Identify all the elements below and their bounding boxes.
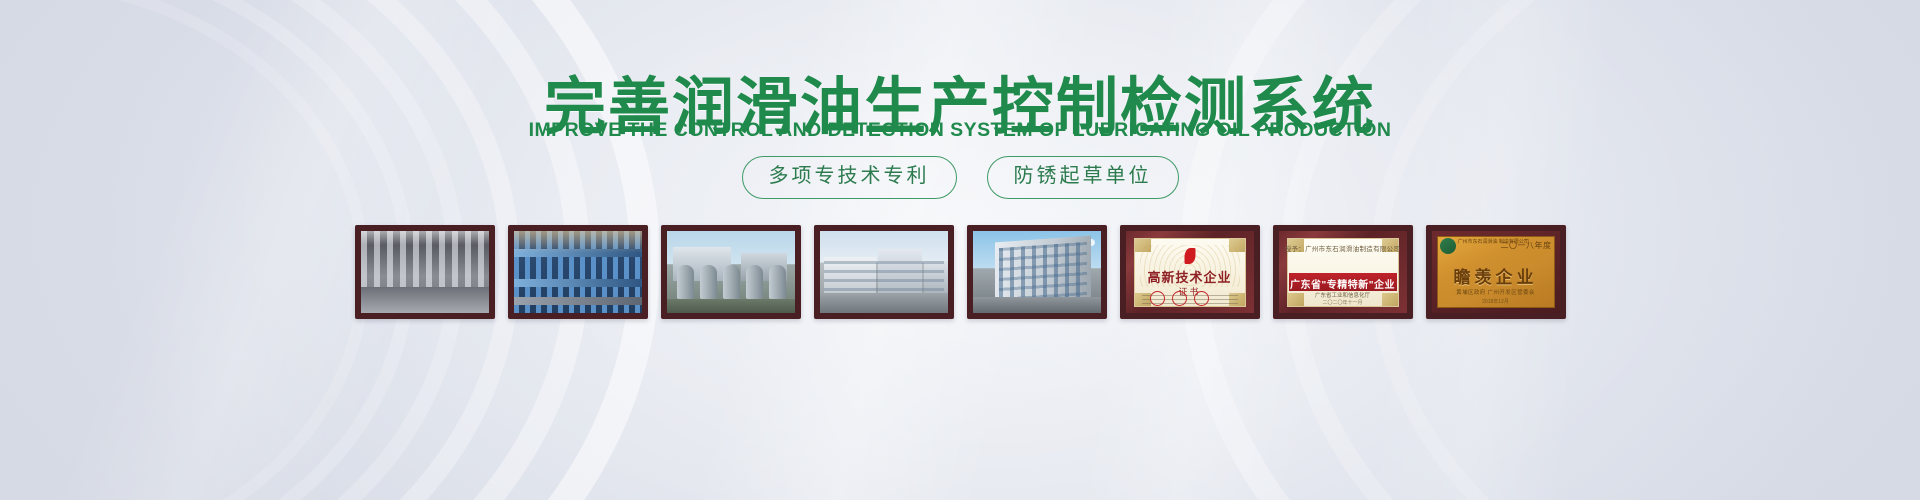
certificate-frame: 高新技术企业 证书 [1126, 231, 1254, 313]
certificate-header-text: 授予：广州市东石润滑油制造有限公司 [1279, 243, 1407, 253]
plaque-date: 2018年12月 [1432, 298, 1560, 305]
gallery-item-storage-tanks[interactable] [661, 225, 801, 319]
credential-gallery: 高新技术企业 证书 授予：广州市东石润滑油制造有限公司 [0, 225, 1920, 319]
certificate-title: 高新技术企业 [1126, 267, 1254, 286]
certificate-frame: 授予：广州市东石润滑油制造有限公司 广东省"专精特新"企业 广东省工业和信息化厅… [1279, 231, 1407, 313]
gallery-item-office-building[interactable] [967, 225, 1107, 319]
ground-strip [973, 297, 1101, 313]
gallery-item-plant-buildings[interactable] [814, 225, 954, 319]
plaque-issuer: 黄埔区政府 广州开发区管委会 [1432, 288, 1560, 296]
gallery-item-honorary-plaque[interactable]: 广州市东石润滑油 制造有限公司 二〇一八年度 瞻羡企业 黄埔区政府 广州开发区管… [1426, 225, 1566, 319]
tank-cylinder [700, 265, 717, 299]
photo-office-building [973, 231, 1101, 313]
company-logo-icon [1440, 238, 1456, 254]
tank-cylinder [746, 265, 763, 299]
gallery-item-factory-interior[interactable] [355, 225, 495, 319]
floor-surface [361, 287, 489, 313]
photo-plant-buildings [820, 231, 948, 313]
banner-subtitle: IMPROVE THE CONTROL AND DETECTION SYSTEM… [0, 119, 1920, 142]
feature-pill-standard[interactable]: 防锈起草单位 [987, 156, 1179, 199]
tank-cylinder [677, 265, 694, 299]
feature-pill-group: 多项专技术专利 防锈起草单位 [0, 156, 1920, 199]
support-beam [514, 297, 642, 305]
photo-piping-rig [514, 231, 642, 313]
tank-cylinder [723, 265, 740, 299]
corner-ornament [1135, 239, 1151, 252]
banner-content: 完善润滑油生产控制检测系统 IMPROVE THE CONTROL AND DE… [0, 0, 1920, 500]
certificate-band-text: 广东省"专精特新"企业 [1279, 276, 1407, 291]
ceiling-light [361, 231, 489, 245]
certificate-date: 二〇二〇年十一月 [1279, 299, 1407, 306]
red-seal-icon [1150, 291, 1165, 306]
corner-ornament [1229, 239, 1245, 252]
plaque-title: 瞻羡企业 [1432, 263, 1560, 288]
warm-light-glow [514, 231, 642, 253]
gallery-item-specialized-new-certificate[interactable]: 授予：广州市东石润滑油制造有限公司 广东省"专精特新"企业 广东省工业和信息化厅… [1273, 225, 1413, 319]
hero-banner: 完善润滑油生产控制检测系统 IMPROVE THE CONTROL AND DE… [0, 0, 1920, 500]
gallery-item-high-tech-certificate[interactable]: 高新技术企业 证书 [1120, 225, 1260, 319]
plaque-frame: 广州市东石润滑油 制造有限公司 二〇一八年度 瞻羡企业 黄埔区政府 广州开发区管… [1432, 231, 1560, 313]
red-seal-icon [1172, 291, 1187, 306]
photo-factory-interior [361, 231, 489, 313]
photo-storage-tanks [667, 231, 795, 313]
support-beam [514, 279, 642, 287]
certificate-issuer: 广东省工业和信息化厅 [1279, 291, 1407, 299]
red-seal-icon [1194, 291, 1209, 306]
road-strip [820, 293, 948, 313]
gallery-item-piping-rig[interactable] [508, 225, 648, 319]
plaque-year: 二〇一八年度 [1501, 240, 1552, 251]
feature-pill-patents[interactable]: 多项专技术专利 [742, 156, 957, 199]
ground-strip [667, 299, 795, 313]
tank-cylinder [769, 265, 786, 299]
